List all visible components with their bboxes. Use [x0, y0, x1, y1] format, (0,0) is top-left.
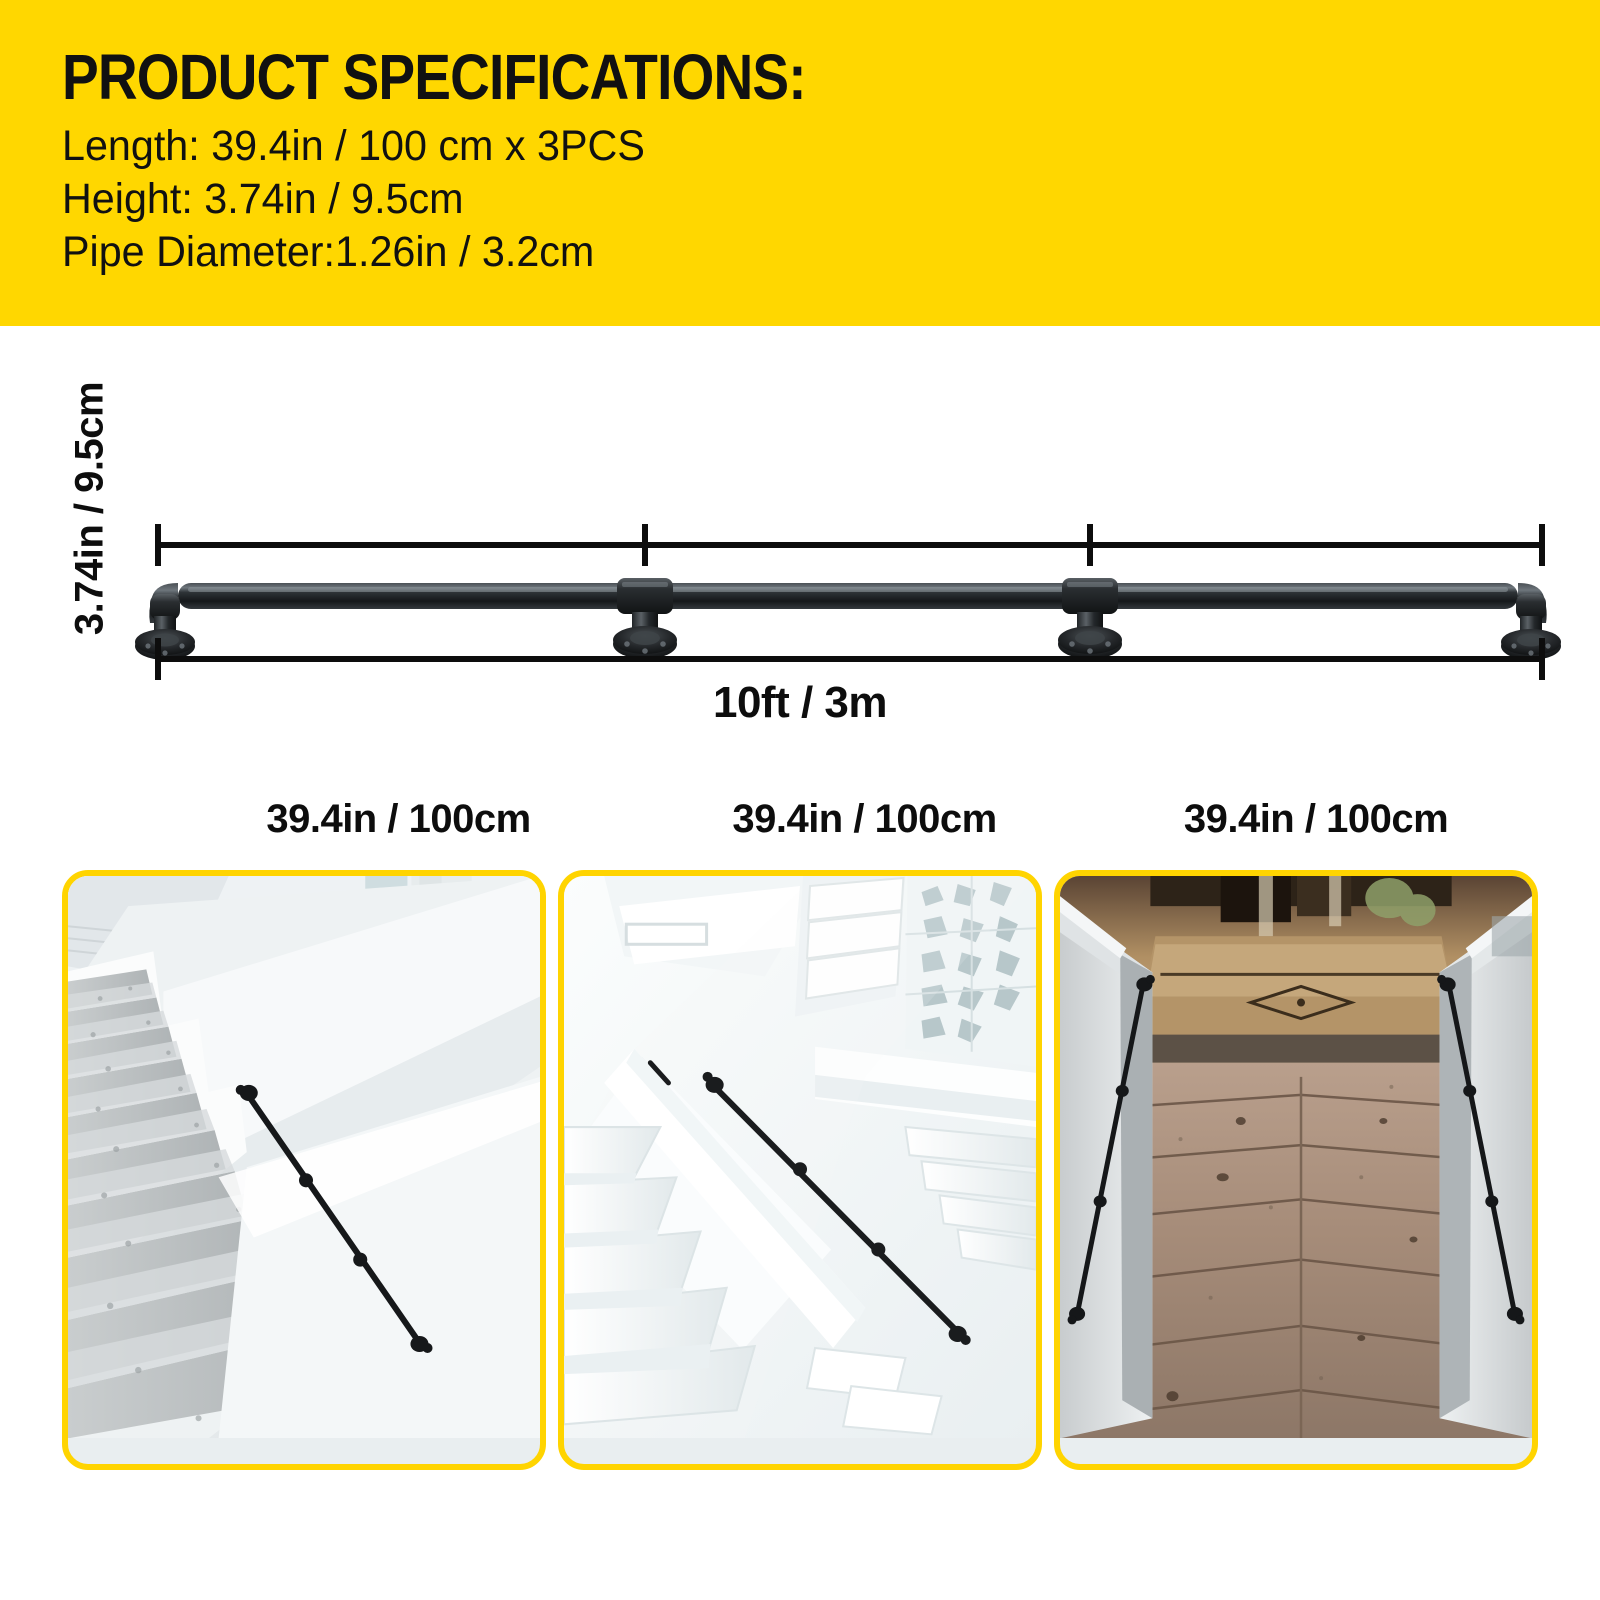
photo-3-image: [1060, 876, 1532, 1438]
page-title: PRODUCT SPECIFICATIONS:: [62, 40, 1385, 114]
spec-list: Length: 39.4in / 100 cm x 3PCS Height: 3…: [62, 120, 1600, 279]
bottom-dim-tick-start: [155, 638, 161, 680]
segment-label-1: 39.4in / 100cm: [155, 796, 642, 842]
top-dimension-line: [155, 542, 1545, 548]
total-length-label: 10ft / 3m: [0, 678, 1600, 728]
top-dim-tick-1: [642, 524, 648, 566]
height-dimension-label: 3.74in / 9.5cm: [68, 359, 113, 659]
application-photo-row: [0, 870, 1600, 1470]
photo-1-image: [68, 876, 540, 1438]
height-label-wrap: 3.74in / 9.5cm: [0, 326, 170, 646]
bottom-dimension-line: [155, 656, 1545, 662]
photo-ramp-corridor-handrail[interactable]: [1054, 870, 1538, 1470]
spec-line-pipe-diameter: Pipe Diameter:1.26in / 3.2cm: [62, 226, 1538, 279]
segment-label-3: 39.4in / 100cm: [1087, 796, 1545, 842]
photo-2-image: [564, 876, 1036, 1438]
top-dim-tick-end: [1539, 524, 1545, 566]
photo-white-staircase-handrail[interactable]: [558, 870, 1042, 1470]
handrail-illustration: [0, 326, 1600, 846]
spec-line-height: Height: 3.74in / 9.5cm: [62, 173, 1538, 226]
dimension-diagram: 3.74in / 9.5cm 39.4in / 100cm 39.4in / 1…: [0, 326, 1600, 846]
spec-banner: PRODUCT SPECIFICATIONS: Length: 39.4in /…: [0, 0, 1600, 326]
spec-line-length: Length: 39.4in / 100 cm x 3PCS: [62, 120, 1538, 173]
segment-label-2: 39.4in / 100cm: [642, 796, 1087, 842]
top-dim-tick-2: [1087, 524, 1093, 566]
top-dim-tick-start: [155, 524, 161, 566]
bottom-dim-tick-end: [1539, 638, 1545, 680]
photo-concrete-stairwell-handrail[interactable]: [62, 870, 546, 1470]
